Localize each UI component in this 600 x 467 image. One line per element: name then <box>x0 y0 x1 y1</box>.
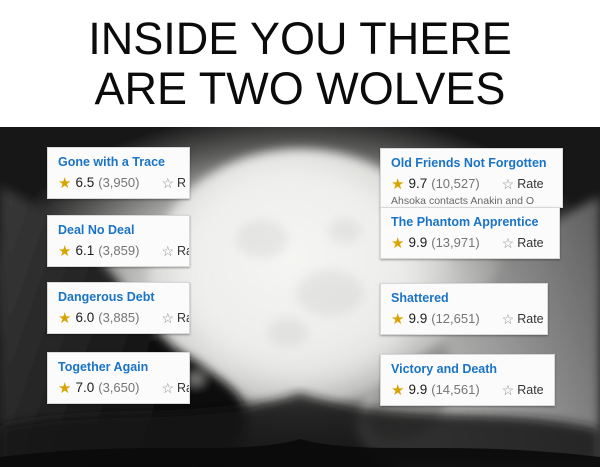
wolves-moon-background: Gone with a Trace ★ 6.5 (3,950) ☆ R Deal… <box>0 127 600 467</box>
rating-card-left-2[interactable]: Deal No Deal ★ 6.1 (3,859) ☆ Ra <box>47 215 190 267</box>
rate-button[interactable]: ☆ Rate <box>502 235 544 251</box>
star-outline-icon: ☆ <box>161 244 174 258</box>
rating-count: (3,950) <box>98 175 139 191</box>
card-title[interactable]: Victory and Death <box>391 362 544 377</box>
card-rating-row: ★ 9.7 (10,527) ☆ Rate <box>391 176 552 192</box>
rate-button[interactable]: ☆ Rate <box>502 176 544 192</box>
rating-value: 9.9 <box>408 235 427 251</box>
card-rating-row: ★ 6.5 (3,950) ☆ R <box>58 175 179 191</box>
rating-card-left-1[interactable]: Gone with a Trace ★ 6.5 (3,950) ☆ R <box>47 147 190 199</box>
star-filled-icon: ★ <box>58 244 71 259</box>
rating-count: (3,859) <box>98 243 139 259</box>
card-title[interactable]: Dangerous Debt <box>58 290 179 305</box>
card-title[interactable]: Gone with a Trace <box>58 155 179 170</box>
card-title[interactable]: The Phantom Apprentice <box>391 215 549 230</box>
star-filled-icon: ★ <box>391 236 404 251</box>
rating-count: (13,971) <box>431 235 479 251</box>
star-outline-icon: ☆ <box>502 177 515 191</box>
card-rating-row: ★ 9.9 (13,971) ☆ Rate <box>391 235 549 251</box>
rate-label: Rate <box>517 176 543 192</box>
rate-label: R <box>177 175 186 191</box>
rate-label: Ra <box>177 380 190 396</box>
rate-label: Rate <box>517 235 543 251</box>
rating-count: (14,561) <box>431 382 479 398</box>
star-outline-icon: ☆ <box>502 383 515 397</box>
star-outline-icon: ☆ <box>502 312 515 326</box>
rating-count: (12,651) <box>431 311 479 327</box>
rating-card-right-4[interactable]: Victory and Death ★ 9.9 (14,561) ☆ Rate <box>380 354 555 406</box>
rate-label: Ra <box>177 243 190 259</box>
rating-count: (3,885) <box>98 310 139 326</box>
rate-button[interactable]: ☆ Rate <box>502 382 544 398</box>
star-filled-icon: ★ <box>58 311 71 326</box>
rating-value: 6.1 <box>75 243 94 259</box>
card-title[interactable]: Shattered <box>391 291 537 306</box>
card-title[interactable]: Together Again <box>58 360 179 375</box>
rating-value: 9.9 <box>408 382 427 398</box>
star-outline-icon: ☆ <box>502 236 515 250</box>
rating-card-right-1[interactable]: Old Friends Not Forgotten ★ 9.7 (10,527)… <box>380 148 563 208</box>
card-rating-row: ★ 6.0 (3,885) ☆ Ra <box>58 310 179 326</box>
star-filled-icon: ★ <box>391 383 404 398</box>
rating-value: 9.9 <box>408 311 427 327</box>
card-description: Ahsoka contacts Anakin and O <box>391 195 552 207</box>
star-filled-icon: ★ <box>58 176 71 191</box>
rating-value: 6.5 <box>75 175 94 191</box>
card-title[interactable]: Deal No Deal <box>58 223 179 238</box>
rate-button[interactable]: ☆ Rate <box>502 311 544 327</box>
star-outline-icon: ☆ <box>161 176 174 190</box>
rate-button[interactable]: ☆ Ra <box>161 380 190 396</box>
rating-count: (10,527) <box>431 176 479 192</box>
card-rating-row: ★ 7.0 (3,650) ☆ Ra <box>58 380 179 396</box>
rating-count: (3,650) <box>98 380 139 396</box>
card-title[interactable]: Old Friends Not Forgotten <box>391 156 552 171</box>
caption-line-2: ARE TWO WOLVES <box>95 64 506 114</box>
rating-value: 6.0 <box>75 310 94 326</box>
card-rating-row: ★ 6.1 (3,859) ☆ Ra <box>58 243 179 259</box>
card-rating-row: ★ 9.9 (12,651) ☆ Rate <box>391 311 537 327</box>
rating-card-right-2[interactable]: The Phantom Apprentice ★ 9.9 (13,971) ☆ … <box>380 207 560 259</box>
rate-button[interactable]: ☆ Ra <box>161 243 190 259</box>
rate-label: Rate <box>517 311 543 327</box>
rate-button[interactable]: ☆ R <box>161 175 186 191</box>
star-filled-icon: ★ <box>391 312 404 327</box>
star-outline-icon: ☆ <box>161 311 174 325</box>
meme-caption-header: INSIDE YOU THERE ARE TWO WOLVES <box>0 0 600 127</box>
rating-card-left-4[interactable]: Together Again ★ 7.0 (3,650) ☆ Ra <box>47 352 190 404</box>
card-rating-row: ★ 9.9 (14,561) ☆ Rate <box>391 382 544 398</box>
rate-button[interactable]: ☆ Ra <box>161 310 190 326</box>
meme-image: INSIDE YOU THERE ARE TWO WOLVES <box>0 0 600 467</box>
rating-card-right-3[interactable]: Shattered ★ 9.9 (12,651) ☆ Rate <box>380 283 548 335</box>
star-outline-icon: ☆ <box>161 381 174 395</box>
star-filled-icon: ★ <box>58 381 71 396</box>
rating-card-left-3[interactable]: Dangerous Debt ★ 6.0 (3,885) ☆ Ra <box>47 282 190 334</box>
rating-value: 9.7 <box>408 176 427 192</box>
rate-label: Rate <box>517 382 543 398</box>
star-filled-icon: ★ <box>391 177 404 192</box>
rating-value: 7.0 <box>75 380 94 396</box>
rate-label: Ra <box>177 310 190 326</box>
caption-line-1: INSIDE YOU THERE <box>88 14 511 64</box>
